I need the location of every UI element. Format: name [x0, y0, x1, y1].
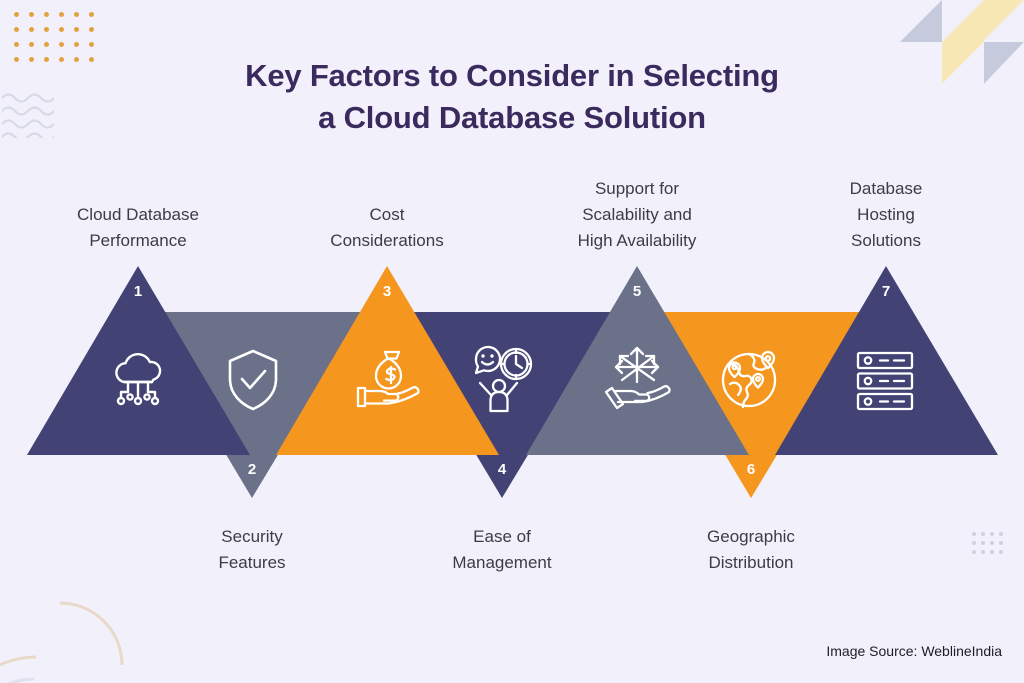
caption-5-line-2: Scalability and [582, 205, 692, 224]
triangle-number-5: 5 [625, 283, 649, 300]
caption-7-line-3: Solutions [851, 231, 921, 250]
caption-1-line-2: Performance [89, 231, 186, 250]
hand-money-bag-icon [352, 348, 424, 412]
infographic-canvas: Key Factors to Consider in Selecting a C… [0, 0, 1024, 683]
caption-3: Cost Considerations [277, 202, 497, 254]
caption-2-line-2: Features [218, 553, 285, 572]
triangle-number-3: 3 [375, 283, 399, 300]
triangle-number-7: 7 [874, 283, 898, 300]
triangle-number-1: 1 [126, 283, 150, 300]
triangle-number-2: 2 [240, 461, 264, 478]
caption-1: Cloud Database Performance [18, 202, 258, 254]
triangle-number-6: 6 [739, 461, 763, 478]
caption-4: Ease of Management [392, 524, 612, 576]
server-rack-icon [854, 350, 916, 412]
caption-6-line-1: Geographic [707, 527, 795, 546]
caption-5-line-3: High Availability [578, 231, 697, 250]
image-source-label: Image Source: WeblineIndia [826, 643, 1002, 659]
triangle-chevron-band [0, 0, 1024, 683]
caption-3-line-2: Considerations [330, 231, 443, 250]
caption-7-line-1: Database [850, 179, 923, 198]
caption-1-line-1: Cloud Database [77, 205, 199, 224]
caption-7-line-2: Hosting [857, 205, 915, 224]
caption-4-line-1: Ease of [473, 527, 531, 546]
caption-6-line-2: Distribution [708, 553, 793, 572]
caption-5-line-1: Support for [595, 179, 679, 198]
person-smiley-clock-icon [466, 345, 538, 413]
cloud-network-icon [106, 350, 172, 414]
caption-3-line-1: Cost [370, 205, 405, 224]
caption-6: Geographic Distribution [641, 524, 861, 576]
caption-5: Support for Scalability and High Availab… [527, 176, 747, 254]
caption-2: Security Features [142, 524, 362, 576]
hand-arrows-scale-icon [602, 344, 672, 412]
triangle-number-4: 4 [490, 461, 514, 478]
globe-pins-icon [718, 347, 784, 413]
caption-2-line-1: Security [221, 527, 282, 546]
shield-check-icon [224, 347, 282, 413]
caption-4-line-2: Management [452, 553, 551, 572]
caption-7: Database Hosting Solutions [786, 176, 986, 254]
